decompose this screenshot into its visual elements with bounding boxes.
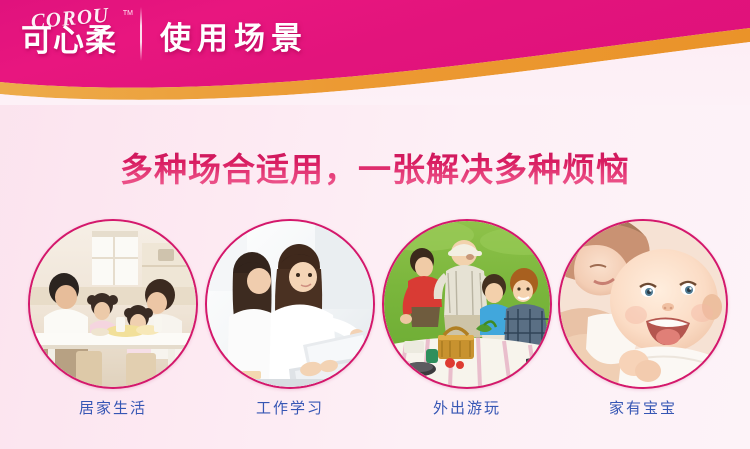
logo-trademark-icon: TM — [123, 10, 133, 17]
promo-banner: COROU TM 可心柔 使用场景 多种场合适用，一张解决多种烦恼 — [0, 0, 750, 449]
header-divider — [140, 7, 142, 61]
scenario-list: 居家生活 — [0, 219, 750, 394]
scenario-item-home-life[interactable]: 居家生活 — [28, 219, 198, 389]
scenario-photo-women-laptop — [205, 219, 375, 389]
scenario-item-outing[interactable]: 外出游玩 — [382, 219, 552, 389]
scenario-item-work-study[interactable]: 工作学习 — [205, 219, 375, 389]
logo-chinese-text: 可心柔 — [8, 26, 130, 57]
scenario-label-baby: 家有宝宝 — [558, 397, 728, 418]
scenario-photo-mother-baby — [558, 219, 728, 389]
scenario-label-outing: 外出游玩 — [382, 397, 552, 418]
brand-logo: COROU TM 可心柔 — [8, 6, 130, 66]
header-title: 使用场景 — [160, 13, 308, 58]
scenario-item-baby[interactable]: 家有宝宝 — [558, 219, 728, 389]
scenario-label-work-study: 工作学习 — [205, 397, 375, 418]
scenario-photo-family-dining — [28, 219, 198, 389]
scenario-photo-family-picnic — [382, 219, 552, 389]
page-title: 多种场合适用，一张解决多种烦恼 — [0, 143, 750, 191]
header-band: COROU TM 可心柔 使用场景 — [0, 0, 750, 105]
scenario-label-home-life: 居家生活 — [28, 397, 198, 418]
